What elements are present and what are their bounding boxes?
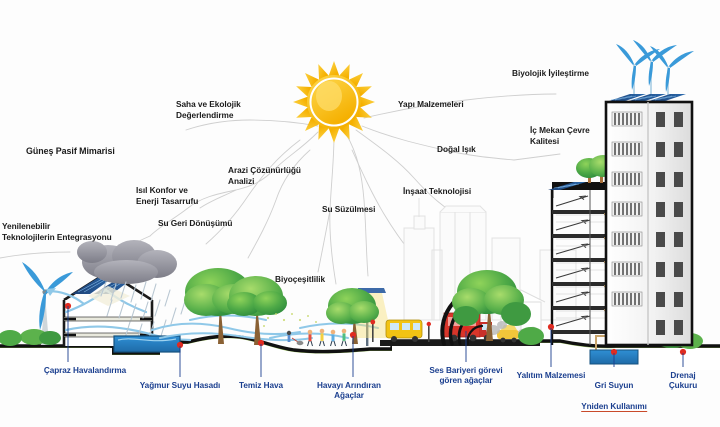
label-ic-mekan-cevre-kalitesi: İç Mekan Çevre Kalitesi	[530, 125, 590, 146]
label-yalitim-malzemesi: Yalıtım Malzemesi	[517, 371, 586, 381]
infographic-canvas: Güneş Pasif Mimarisi Saha ve Ekolojik De…	[0, 0, 720, 427]
rainwater-harvest-tank	[114, 336, 183, 352]
shrub	[518, 327, 544, 345]
label-insaat-teknolojisi: İnşaat Teknolojisi	[403, 186, 471, 197]
label-su-geri-donusumu: Su Geri Dönüşümü	[158, 218, 232, 229]
label-saha-ve-ekolojik-degerlendirme: Saha ve Ekolojik Değerlendirme	[176, 99, 241, 120]
label-yenilenebilir-teknolojilerin-entegrasyonu: Yenilenebilir Teknolojilerin Entegrasyon…	[2, 221, 112, 242]
label-drenaj-cukuru: Drenaj Çukuru	[665, 371, 702, 391]
greywater-line1: Gri Suyun	[595, 381, 634, 390]
label-gunes-pasif-mimarisi: Güneş Pasif Mimarisi	[26, 146, 115, 157]
label-yagmur-suyu-hasadi: Yağmur Suyu Hasadı	[140, 381, 221, 391]
label-biyolojik-iyilestirme: Biyolojik İyileştirme	[512, 68, 589, 79]
label-su-suzulmesi: Su Süzülmesi	[322, 204, 375, 215]
label-dogal-isik: Doğal Işık	[437, 144, 476, 155]
label-temiz-hava: Temiz Hava	[239, 381, 283, 391]
label-gri-suyun-yeniden-kullanimi: Gri Suyun Yniden Kullanımı	[581, 371, 647, 412]
label-yapi-malzemeleri: Yapı Malzemeleri	[398, 99, 464, 110]
label-isil-konfor-ve-enerji-tasarrufu: Isıl Konfor ve Enerji Tasarrufu	[136, 185, 198, 206]
greywater-line2: Yniden Kullanımı	[581, 402, 647, 412]
sun-icon	[293, 61, 375, 143]
label-biyocesitlilik: Biyoçeşitlilik	[275, 274, 325, 285]
label-havayi-arindiran-agaclar: Havayı Arındıran Ağaçlar	[317, 381, 381, 401]
label-ses-bariyeri-goren-agaclar: Ses Bariyeri görevi gören ağaçlar	[429, 366, 502, 386]
label-arazi-cozunurlugu-analizi: Arazi Çözünürlüğü Analizi	[228, 165, 301, 186]
label-capraz-havalandirma: Çapraz Havalandırma	[44, 366, 126, 376]
